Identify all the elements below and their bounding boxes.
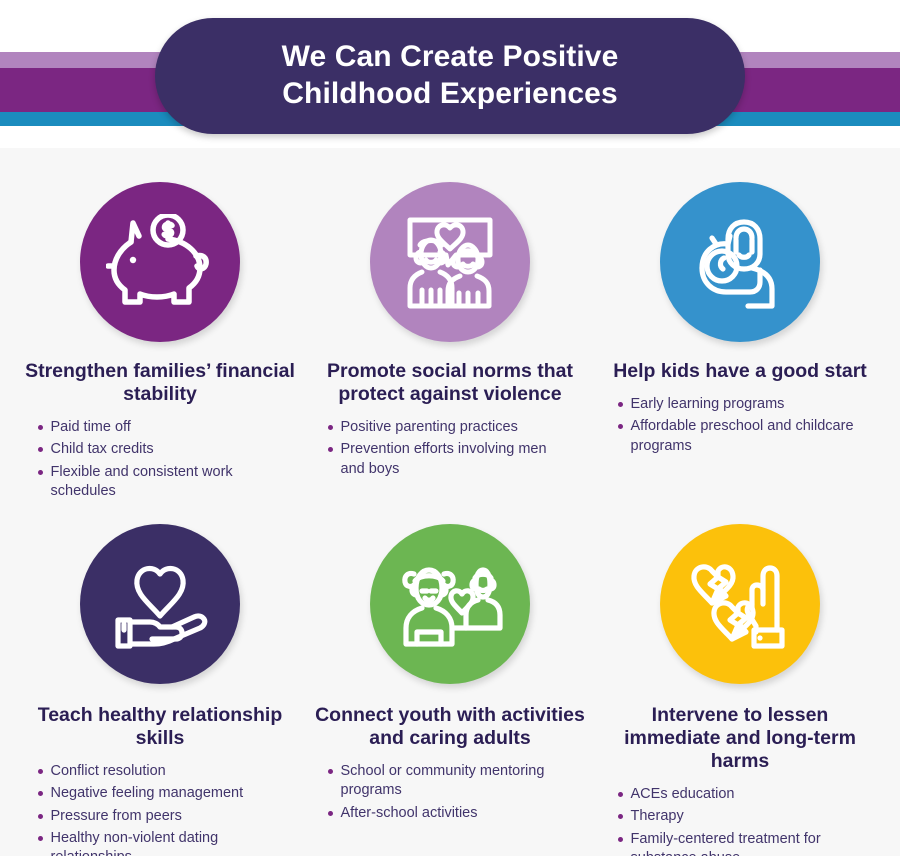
card-intervene-to-lessen-harms: Intervene to lessen immediate and long-t…: [595, 524, 885, 856]
card-bullet-list: Conflict resolution Negative feeling man…: [38, 762, 283, 856]
card-help-kids-good-start: Help kids have a good start Early learni…: [595, 182, 885, 504]
list-item: Child tax credits: [38, 440, 283, 459]
icon-circle-parent-baby: [660, 182, 820, 342]
list-item: Positive parenting practices: [328, 418, 573, 437]
header-band: We Can Create Positive Childhood Experie…: [0, 0, 900, 148]
icon-circle-family-heart: [370, 182, 530, 342]
piggy-bank-icon: [106, 214, 214, 310]
card-grid: Strengthen families’ financial stability…: [0, 148, 900, 856]
icon-circle-piggy-bank: [80, 182, 240, 342]
card-title: Promote social norms that protect agains…: [311, 360, 589, 406]
card-title: Teach healthy relationship skills: [21, 704, 299, 750]
card-bullet-list: School or community mentoring programs A…: [328, 762, 573, 826]
icon-circle-broken-hearts-hand: [660, 524, 820, 684]
list-item: Flexible and consistent work schedules: [38, 463, 283, 502]
list-item: Paid time off: [38, 418, 283, 437]
list-item: Early learning programs: [618, 395, 863, 414]
card-bullet-list: Paid time off Child tax credits Flexible…: [38, 418, 283, 504]
child-and-adult-heart-icon: [396, 558, 504, 650]
card-title: Help kids have a good start: [613, 360, 867, 383]
parent-holding-baby-icon: [690, 214, 790, 310]
card-title: Strengthen families’ financial stability: [21, 360, 299, 406]
list-item: Negative feeling management: [38, 784, 283, 803]
card-title: Intervene to lessen immediate and long-t…: [601, 704, 879, 773]
icon-circle-hand-heart: [80, 524, 240, 684]
card-bullet-list: ACEs education Therapy Family-centered t…: [618, 785, 863, 856]
title-pill: We Can Create Positive Childhood Experie…: [155, 18, 745, 134]
card-bullet-list: Positive parenting practices Prevention …: [328, 418, 573, 482]
list-item: Family-centered treatment for substance …: [618, 830, 863, 856]
list-item: Healthy non-violent dating relationships: [38, 829, 283, 856]
page-title-line-2: Childhood Experiences: [282, 77, 618, 110]
broken-hearts-stop-hand-icon: [688, 556, 792, 652]
list-item: After-school activities: [328, 804, 573, 823]
card-connect-youth-with-activities: Connect youth with activities and caring…: [305, 524, 595, 856]
list-item: Prevention efforts involving men and boy…: [328, 440, 573, 479]
list-item: School or community mentoring programs: [328, 762, 573, 801]
list-item: Therapy: [618, 807, 863, 826]
page-title-line-1: We Can Create Positive: [282, 40, 619, 73]
card-title: Connect youth with activities and caring…: [311, 704, 589, 750]
list-item: Pressure from peers: [38, 807, 283, 826]
hand-holding-heart-icon: [108, 558, 212, 650]
infographic-page: We Can Create Positive Childhood Experie…: [0, 0, 900, 856]
card-promote-social-norms: Promote social norms that protect agains…: [305, 182, 595, 504]
card-bullet-list: Early learning programs Affordable presc…: [618, 395, 863, 459]
page-title: We Can Create Positive Childhood Experie…: [256, 39, 645, 112]
list-item: ACEs education: [618, 785, 863, 804]
list-item: Conflict resolution: [38, 762, 283, 781]
card-teach-healthy-relationship-skills: Teach healthy relationship skills Confli…: [15, 524, 305, 856]
card-strengthen-families-financial-stability: Strengthen families’ financial stability…: [15, 182, 305, 504]
icon-circle-child-adult-heart: [370, 524, 530, 684]
family-heart-billboard-icon: [398, 212, 502, 312]
list-item: Affordable preschool and childcare progr…: [618, 417, 863, 456]
